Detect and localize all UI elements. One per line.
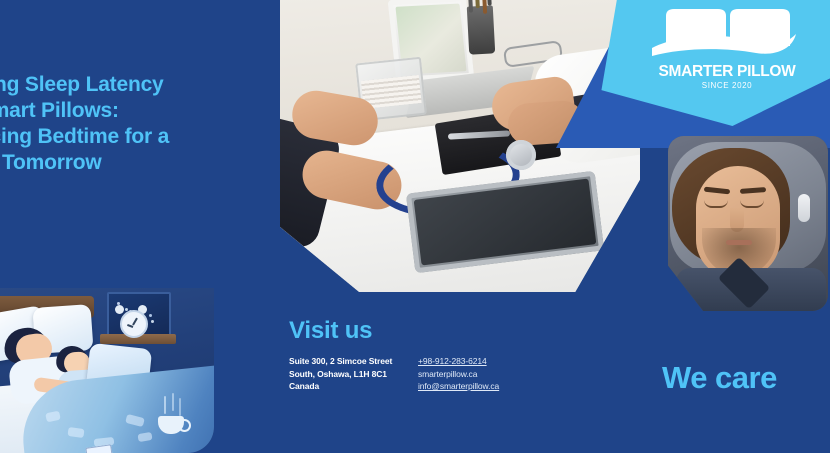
family-sleeping-illustration (0, 288, 214, 453)
address-text: Suite 300, 2 Simcoe Street South, Oshawa… (289, 355, 392, 393)
alarm-clock-icon (120, 310, 148, 338)
two-pillows-wave-logo-icon (652, 4, 802, 66)
pen-holder (467, 5, 495, 54)
man-mouth (726, 240, 752, 245)
we-care-tagline: We care (662, 360, 777, 396)
steam-icon (164, 396, 166, 414)
poster-canvas: ...cing Sleep Latency ...Smart Pillows: … (0, 0, 830, 453)
contact-list: +98-912-283-6214 smarterpillow.ca info@s… (418, 355, 499, 393)
page-title: ...cing Sleep Latency ...Smart Pillows: … (0, 72, 260, 176)
logo-wordmark: SMARTER PILLOW (652, 63, 802, 81)
stethoscope-head-icon (506, 140, 536, 170)
logo-tagline: SINCE 2020 (652, 81, 802, 90)
pillow-control-button-icon (798, 194, 810, 222)
visit-us-heading: Visit us (289, 317, 372, 345)
alarm-bell-left-icon (115, 305, 124, 314)
sleeping-man-photo (668, 136, 828, 311)
illustration-scene (0, 288, 214, 453)
website-text: smarterpillow.ca (418, 368, 499, 381)
email-link[interactable]: info@smarterpillow.ca (418, 380, 499, 393)
phone-link[interactable]: +98-912-283-6214 (418, 355, 499, 368)
